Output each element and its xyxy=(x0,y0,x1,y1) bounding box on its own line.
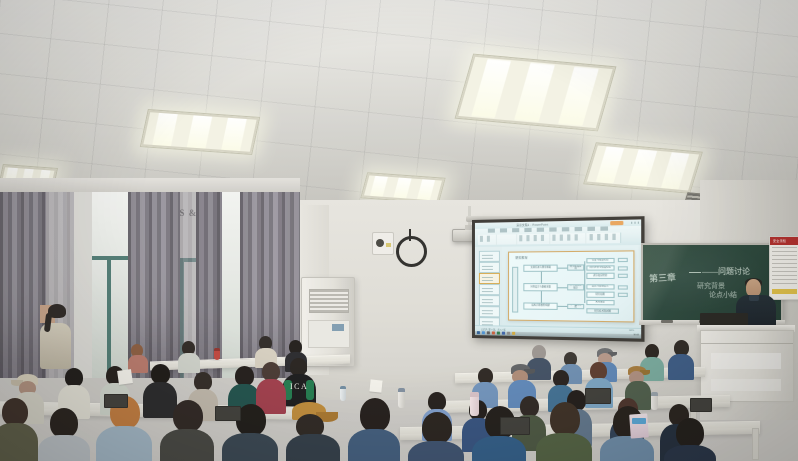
flow-chip-4 xyxy=(618,285,628,289)
slide-thumbnail-pane[interactable] xyxy=(475,247,503,327)
laptop-2[interactable] xyxy=(690,398,712,412)
lectern xyxy=(700,330,794,402)
ribbon-icons-b[interactable] xyxy=(519,235,545,242)
curtain-valance xyxy=(0,178,300,192)
paper-sheet-1[interactable] xyxy=(117,369,133,385)
podium-seam xyxy=(701,343,793,344)
laptop-5[interactable] xyxy=(215,406,241,421)
taskbar-explorer-icon[interactable] xyxy=(487,332,490,335)
water-bottle-4[interactable] xyxy=(651,392,658,410)
ac-grille-icon xyxy=(309,289,349,313)
flow-node-r2: 回归分析与假设检验 xyxy=(586,265,614,271)
chalk-line-1: 第三章 xyxy=(649,270,677,284)
slide-editing-stage[interactable]: 研究框架 文献综述与理论基础 问卷设计与数据采集 结构方程模型构建 研究假设提出… xyxy=(502,245,641,329)
taskbar-search-icon[interactable] xyxy=(482,331,485,334)
projection-screen: 演示文稿1 - PowerPoint xyxy=(472,216,645,342)
water-bottle-2[interactable] xyxy=(470,392,479,416)
screen-surface: 演示文稿1 - PowerPoint xyxy=(475,219,641,338)
audience-person-f7 xyxy=(348,398,400,461)
ica-jacket-text: ICA xyxy=(290,382,308,391)
podium-panel-lower xyxy=(711,379,781,391)
chalk-eraser-1[interactable] xyxy=(661,320,673,323)
flow-node-mid-3: 中介效应检验 xyxy=(568,303,584,309)
audience-person-f12 xyxy=(664,418,716,461)
flow-node-mid-2: 样本描述性统计 xyxy=(568,284,584,290)
audience-person-f8 xyxy=(408,412,464,461)
presenter-collar xyxy=(749,295,759,301)
chalk-line-3: 研究背景 xyxy=(697,281,725,291)
ceiling-light-panel-left xyxy=(140,109,260,155)
flow-node-r6: 未来展望 xyxy=(586,299,614,305)
powerpoint-title-text: 演示文稿1 - PowerPoint xyxy=(516,222,548,227)
ac-display xyxy=(332,324,344,331)
ribbon-icons-d[interactable] xyxy=(589,234,616,241)
flow-connector-v1 xyxy=(541,272,542,284)
standing-attendee-hair xyxy=(48,304,66,318)
laptop-1[interactable] xyxy=(585,388,611,404)
water-bottle-3[interactable] xyxy=(340,386,346,401)
paper-sheet-2[interactable] xyxy=(369,379,382,392)
flow-node-1: 文献综述与理论基础 xyxy=(524,264,558,272)
chalk-line-4: 论点小结 xyxy=(709,290,737,300)
wall-speaker xyxy=(372,232,394,255)
taskbar-powerpoint-icon[interactable] xyxy=(492,332,495,335)
ribbon-icons-c[interactable] xyxy=(552,234,582,241)
slide-thumbnail-2[interactable] xyxy=(479,262,500,273)
flow-chip-3 xyxy=(618,274,628,278)
chalk-dash-icon xyxy=(689,272,701,273)
slide-thumbnail-4[interactable] xyxy=(479,284,500,295)
slide-thumbnail-6[interactable] xyxy=(479,306,500,317)
taskbar-excel-icon[interactable] xyxy=(497,332,500,335)
slide-thumbnail-1[interactable] xyxy=(479,251,500,262)
audience-person-b3 xyxy=(178,341,200,369)
speaker-label-tag xyxy=(386,243,391,247)
flow-node-2: 问卷设计与数据采集 xyxy=(524,283,558,291)
flow-node-r3: 调节效应检验 xyxy=(586,273,614,279)
chalk-line-2: ——问题讨论 xyxy=(702,266,750,277)
notebook-label xyxy=(632,418,646,424)
laptop-4[interactable] xyxy=(104,394,128,408)
slide-thumbnail-5[interactable] xyxy=(479,295,500,306)
water-bottle-5[interactable] xyxy=(214,348,220,360)
flow-connector-2 xyxy=(558,287,568,288)
flow-node-r4: 结论与管理启示 xyxy=(586,284,614,290)
audience-person-b1 xyxy=(255,336,277,364)
ceiling-light-panel-center xyxy=(455,54,617,132)
audience-person-f1 xyxy=(0,398,38,461)
slide-thumbnail-3[interactable] xyxy=(479,273,500,284)
flow-node-mid-1: 研究假设提出 xyxy=(568,265,584,271)
flow-node-3: 结构方程模型构建 xyxy=(524,302,558,310)
window-mullion-b xyxy=(107,256,111,378)
classroom-scene: CS & 演示文稿1 - PowerPoint xyxy=(0,0,798,461)
flow-connector-3 xyxy=(558,306,568,307)
taskbar-word-icon[interactable] xyxy=(502,332,505,335)
slide-side-label xyxy=(512,267,518,312)
poster-header-text: 安全须知 xyxy=(773,239,786,243)
taskbar-clock[interactable]: 10:42 xyxy=(633,334,639,336)
air-conditioner-unit xyxy=(301,277,355,367)
standing-attendee xyxy=(40,305,74,367)
flow-node-r1: 信度与效度检验 xyxy=(586,258,614,264)
taskbar-folder-icon[interactable] xyxy=(512,332,515,335)
ribbon-icons-a[interactable] xyxy=(480,236,494,242)
flow-chip-1 xyxy=(618,258,628,262)
speaker-cone-icon xyxy=(376,239,384,247)
audience-person-f2 xyxy=(38,408,90,461)
coiled-cable xyxy=(396,236,427,267)
window-controls-icon[interactable] xyxy=(631,221,640,224)
flow-chip-5 xyxy=(618,293,628,297)
laptop-3[interactable] xyxy=(500,417,530,435)
podium-panel-upper xyxy=(711,353,781,369)
flow-connector-v3 xyxy=(584,261,585,303)
flow-chip-2 xyxy=(618,266,628,270)
desk-leg-c1 xyxy=(752,428,759,460)
current-slide[interactable]: 研究框架 文献综述与理论基础 问卷设计与数据采集 结构方程模型构建 研究假设提出… xyxy=(508,250,634,323)
taskbar-start-icon[interactable] xyxy=(477,331,480,334)
flow-node-r7: 研究技术路线图 xyxy=(586,308,619,314)
poster-header: 安全须知 xyxy=(770,237,798,245)
powerpoint-account-button[interactable] xyxy=(610,221,623,225)
slide-title: 研究框架 xyxy=(515,256,527,260)
water-bottle-1[interactable] xyxy=(398,388,405,408)
audience-person-f4 xyxy=(160,400,214,461)
audience-person-f6 xyxy=(286,402,340,461)
flow-connector-1 xyxy=(558,268,568,269)
flow-connector-v2 xyxy=(541,291,542,303)
audience-person-a5 xyxy=(668,340,694,378)
zoom-level[interactable]: 66% xyxy=(629,330,634,332)
audience-person-f10 xyxy=(536,402,592,461)
ribbon-group-slides[interactable] xyxy=(495,234,517,244)
flow-node-r5: 研究局限 xyxy=(586,292,614,298)
taskbar-browser-icon[interactable] xyxy=(507,332,510,335)
